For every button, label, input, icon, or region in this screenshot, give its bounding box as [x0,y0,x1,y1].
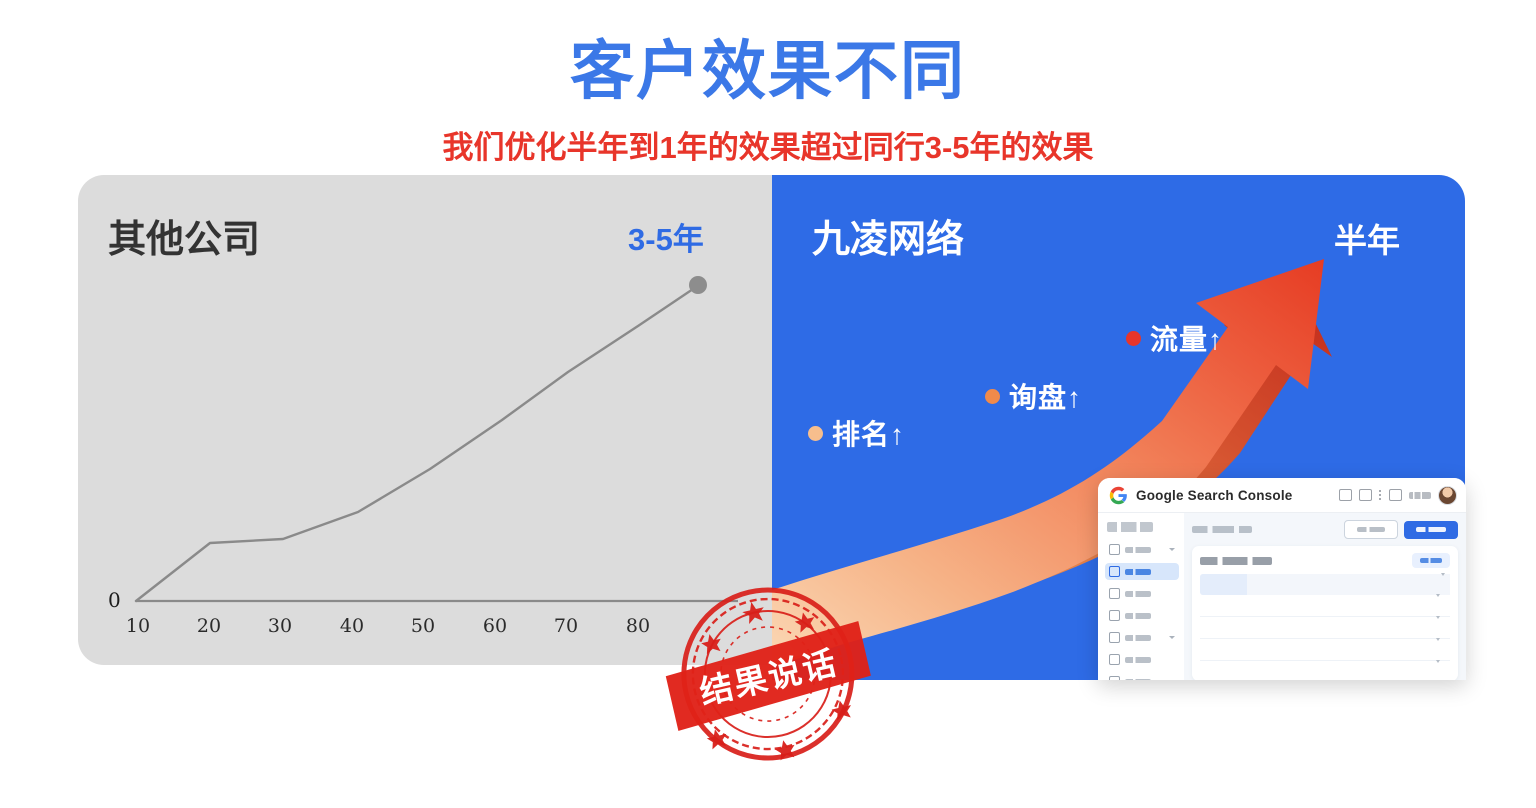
google-logo-icon [1109,486,1128,505]
performance-icon [1109,566,1120,577]
metric-traffic: 流量↑ [1126,318,1223,358]
account-label[interactable] [1409,492,1431,499]
x-tick-30: 30 [268,615,292,637]
chevron-down-icon [1169,548,1175,551]
screenshot-icon[interactable] [1339,489,1352,501]
chart-line [136,287,696,601]
cell-3-1 [1200,639,1247,661]
breadcrumb [1192,526,1252,533]
google-search-console-card: Google Search Console [1098,478,1466,680]
x-tick-50: 50 [411,615,435,637]
gsc-body [1098,513,1466,680]
row-action-2[interactable] [1436,617,1450,639]
table-row [1200,639,1450,661]
chart-end-marker [689,276,707,294]
sidebar-item-3[interactable] [1105,585,1179,602]
page-subtitle: 我们优化半年到1年的效果超过同行3-5年的效果 [0,122,1536,167]
enhancements-icon [1109,654,1120,665]
x-tick-80: 80 [626,615,650,637]
export-button[interactable] [1412,553,1450,568]
sidebar-item-5[interactable] [1105,629,1179,646]
metric-inquiry-label: 询盘↑ [1009,376,1082,416]
y-tick-0: 0 [108,588,121,612]
metric-ranking: 排名↑ [808,413,905,453]
table-row [1200,617,1450,639]
report-title [1200,557,1272,565]
ranking-dot-icon [808,426,823,441]
row-action-1[interactable] [1436,595,1450,617]
chevron-down-icon-2 [1169,636,1175,639]
cell-2-3 [1294,617,1341,639]
cell-4-4 [1342,661,1389,681]
secondary-button[interactable] [1344,520,1398,539]
cell-2-5 [1389,617,1436,639]
cell-2-4 [1342,617,1389,639]
inspection-icon [1109,588,1120,599]
cell-3-5 [1389,639,1436,661]
cell-1-3 [1294,595,1341,617]
column-header-4[interactable] [1342,574,1389,595]
sidebar-item-2-label [1125,569,1151,575]
gsc-header: Google Search Console [1098,478,1466,513]
x-tick-40: 40 [340,615,364,637]
gsc-title: Google Search Console [1136,488,1292,503]
sidebar-item-7[interactable] [1105,673,1179,680]
right-panel-duration-badge: 半年 [1334,214,1400,262]
cell-4-5 [1389,661,1436,681]
metric-inquiry: 询盘↑ [985,376,1082,416]
more-options-icon[interactable] [1379,490,1382,501]
cell-4-1 [1200,661,1247,681]
gsc-toolbar [1192,520,1458,539]
cell-3-2 [1247,639,1294,661]
sitemaps-icon [1109,632,1120,643]
sidebar-item-4[interactable] [1105,607,1179,624]
avatar[interactable] [1438,486,1457,505]
security-icon [1109,676,1120,680]
row-action-3[interactable] [1436,639,1450,661]
sidebar-item-6[interactable] [1105,651,1179,668]
coverage-icon [1109,610,1120,621]
x-tick-60: 60 [483,615,507,637]
left-panel-label: 其他公司 [108,208,260,263]
gsc-data-table [1200,574,1450,680]
metric-traffic-label: 流量↑ [1150,318,1223,358]
cell-1-2 [1247,595,1294,617]
cell-4-2 [1247,661,1294,681]
gsc-report-header [1200,553,1450,568]
column-header-3[interactable] [1294,574,1341,595]
sidebar-item-3-label [1125,591,1151,597]
column-header-1[interactable] [1200,574,1247,595]
sidebar-item-7-label [1125,679,1151,681]
table-row [1200,595,1450,617]
page-title: 客户效果不同 [0,36,1536,108]
cell-1-1 [1200,595,1247,617]
column-header-sort[interactable] [1436,574,1450,595]
gsc-header-actions [1339,486,1457,505]
cell-1-4 [1342,595,1389,617]
help-icon[interactable] [1359,489,1372,501]
gsc-report-card [1192,546,1458,680]
sidebar-property-selector[interactable] [1107,522,1153,532]
traffic-dot-icon [1126,331,1141,346]
cell-2-2 [1247,617,1294,639]
table-row [1200,661,1450,681]
inquiry-dot-icon [985,389,1000,404]
sidebar-item-4-label [1125,613,1151,619]
apps-icon[interactable] [1389,489,1402,501]
column-header-5[interactable] [1389,574,1436,595]
left-panel-duration-badge: 3-5年 [628,214,704,259]
cell-4-3 [1294,661,1341,681]
cell-3-4 [1342,639,1389,661]
right-panel-label: 九凌网络 [812,208,964,263]
sidebar-item-2-selected[interactable] [1105,563,1179,580]
row-action-4[interactable] [1436,661,1450,681]
gsc-main [1184,513,1466,680]
column-header-2[interactable] [1247,574,1294,595]
overview-icon [1109,544,1120,555]
sidebar-item-1-label [1125,547,1151,553]
table-header-row [1200,574,1450,595]
cell-2-1 [1200,617,1247,639]
cell-1-5 [1389,595,1436,617]
x-tick-70: 70 [554,615,578,637]
x-tick-20: 20 [197,615,221,637]
gsc-sidebar [1098,513,1184,680]
metric-ranking-label: 排名↑ [832,413,905,453]
sidebar-item-1[interactable] [1105,541,1179,558]
sidebar-item-5-label [1125,635,1151,641]
poster-stage: 客户效果不同 我们优化半年到1年的效果超过同行3-5年的效果 0 10 20 3… [0,0,1536,808]
x-tick-10: 10 [126,615,150,637]
cell-3-3 [1294,639,1341,661]
primary-button[interactable] [1404,521,1458,539]
sidebar-item-6-label [1125,657,1151,663]
